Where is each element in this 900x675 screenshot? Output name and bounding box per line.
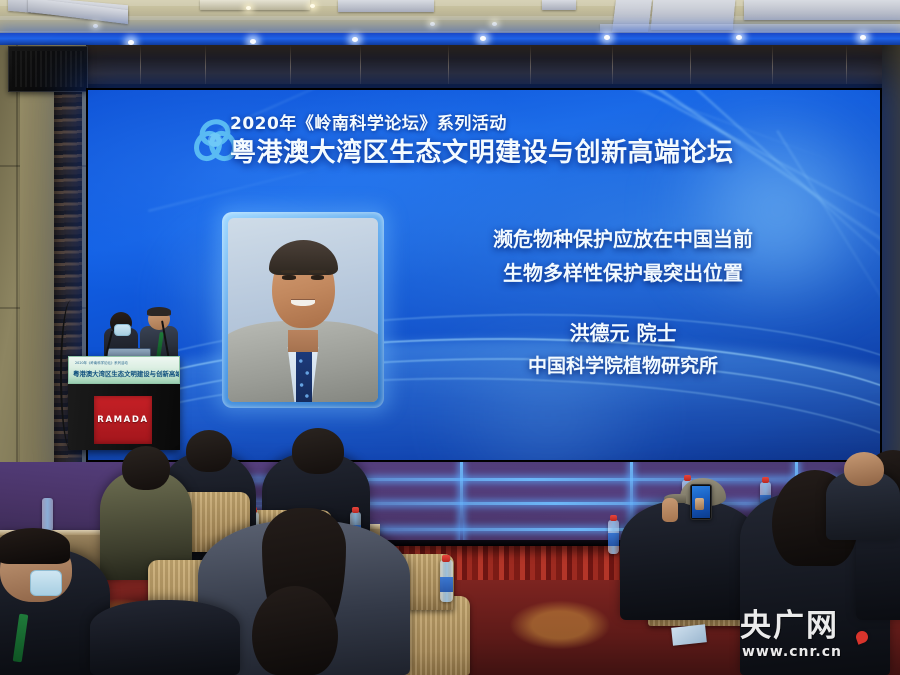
speaker-affiliation: 中国科学院植物研究所: [418, 350, 828, 382]
topic-line1: 濒危物种保护应放在中国当前: [418, 222, 828, 256]
screen-header-line2: 粤港澳大湾区生态文明建设与创新高端论坛: [230, 137, 830, 169]
conference-hall-photo: 2020年《岭南科学论坛》系列活动 粤港澳大湾区生态文明建设与创新高端论坛 濒危…: [0, 0, 900, 675]
venue-brand-sign: RAMADA: [94, 396, 152, 444]
venue-brand-label: RAMADA: [97, 415, 148, 425]
audience-head: [186, 430, 232, 472]
screen-header-line1: 2020年《岭南科学论坛》系列活动: [230, 113, 830, 135]
smartphone[interactable]: [690, 484, 712, 520]
audience-head: [122, 446, 170, 490]
audience-head: [252, 586, 338, 675]
valance-band: [0, 45, 900, 89]
face-mask: [30, 570, 62, 596]
water-bottle: [42, 498, 53, 532]
topic-line2: 生物多样性保护最突出位置: [418, 256, 828, 290]
right-wall: [882, 45, 900, 515]
water-bottle: [608, 520, 619, 554]
speaker-portrait-frame: [222, 212, 384, 408]
ceiling: [0, 0, 900, 34]
audience-head: [292, 428, 344, 474]
handout-paper: [671, 624, 707, 645]
screen-topic-block: 濒危物种保护应放在中国当前 生物多样性保护最突出位置 洪德元 院士 中国科学院植…: [418, 222, 828, 382]
speaker-portrait: [228, 218, 378, 402]
screen-header: 2020年《岭南科学论坛》系列活动 粤港澳大湾区生态文明建设与创新高端论坛: [230, 113, 830, 169]
podium-banner-line2: 粤港澳大湾区生态文明建设与创新高端论坛: [73, 368, 176, 380]
podium-banner-line1: 2020年《岭南科学论坛》系列活动: [75, 360, 175, 366]
audience-head: [844, 452, 884, 486]
speaker-name: 洪德元 院士: [418, 316, 828, 350]
water-bottle: [440, 560, 453, 602]
hand: [662, 498, 678, 522]
audience-member: [90, 600, 240, 675]
phone-screen: [692, 486, 710, 518]
ceiling-speaker: [8, 46, 88, 92]
podium: 2020年《岭南科学论坛》系列活动 粤港澳大湾区生态文明建设与创新高端论坛 RA…: [68, 356, 180, 450]
podium-banner: 2020年《岭南科学论坛》系列活动 粤港澳大湾区生态文明建设与创新高端论坛: [68, 356, 180, 384]
audience-head-hair: [0, 528, 70, 564]
podium-cable: [60, 300, 82, 450]
